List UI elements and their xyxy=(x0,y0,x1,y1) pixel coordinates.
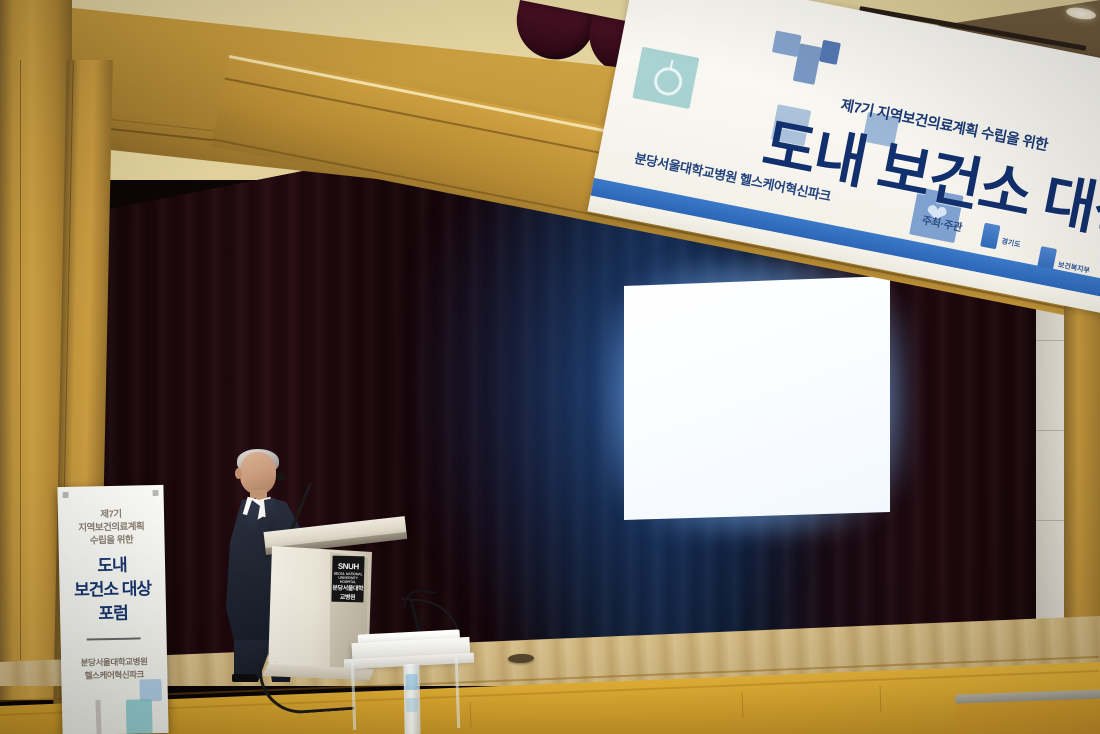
standing-banner-divider xyxy=(87,637,141,640)
banner-clip xyxy=(63,492,69,498)
snuh-logo-korean: 분당서울대학교병원 xyxy=(331,583,363,602)
teal-stethoscope-square-icon xyxy=(632,47,699,109)
standing-banner-title-2: 보건소 대상 xyxy=(59,577,165,603)
acrylic-table-leg xyxy=(403,664,420,734)
lectern-logo-plate: SNUH SEOUL NATIONAL UNIVERSITY HOSPITAL … xyxy=(331,556,364,603)
teal-square-icon xyxy=(126,699,153,734)
presenter-shoe xyxy=(232,674,258,682)
standing-banner-title-1: 도내 xyxy=(59,553,165,579)
gyeonggi-do-logo xyxy=(980,223,1000,250)
snuh-logo-text: SNUH xyxy=(332,562,364,572)
standing-x-banner: 제7기 지역보건의료계획 수립을 위한 도내 보건소 대상 포럼 분당서울대학교… xyxy=(57,485,168,734)
stage-step xyxy=(955,689,1100,734)
podium-microphone-icon xyxy=(277,473,285,481)
blue-square-icon xyxy=(139,679,161,701)
standing-banner-line-3: 수립을 위한 xyxy=(58,533,164,548)
gyeonggi-do-logo-text: 경기도 xyxy=(1001,236,1022,250)
presenter-head xyxy=(240,452,276,494)
projection-screen xyxy=(624,276,890,520)
banner-clip xyxy=(152,490,158,496)
presenter-ear xyxy=(235,468,242,479)
photo-scene: ❤ 제7기 지역보건의료계획 수립을 위한 도내 보건소 대상 포럼 분당서울대… xyxy=(0,0,1100,734)
standing-banner-title-3: 포럼 xyxy=(60,601,166,627)
blue-square-icon xyxy=(819,40,841,65)
